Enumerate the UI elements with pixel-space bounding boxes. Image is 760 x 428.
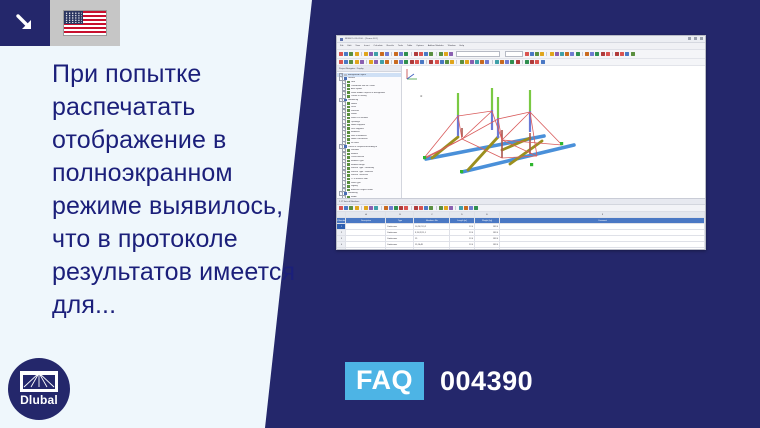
toolbar-button[interactable] (460, 60, 464, 64)
toolbar-separator (546, 52, 547, 56)
mouse-cursor-icon: ➠ (420, 94, 423, 98)
toolbar-button[interactable] (505, 60, 509, 64)
toolbar-button[interactable] (399, 206, 403, 210)
toolbar-button[interactable] (429, 60, 433, 64)
tree-item-label: Coordinate Info on Cursor (351, 85, 375, 87)
toolbar-button[interactable] (374, 52, 378, 56)
menu-item[interactable]: File (340, 45, 344, 47)
faq-card: При попытке распечатать отображение в по… (0, 0, 760, 428)
toolbar-button[interactable] (590, 52, 594, 56)
toolbar-button[interactable] (440, 60, 444, 64)
table-cell[interactable]: 12.0 (450, 236, 475, 241)
table-header-cell: Type (386, 218, 414, 223)
toolbar-button[interactable] (374, 60, 378, 64)
toolbar-button[interactable] (339, 52, 343, 56)
project-navigator-panel: Project Navigator - Display +Background … (337, 66, 402, 198)
toolbar-button[interactable] (449, 52, 453, 56)
toolbar-separator (391, 52, 392, 56)
table-cell[interactable] (346, 236, 386, 241)
toolbar-button[interactable] (374, 206, 378, 210)
table-cell[interactable]: Continuous (386, 230, 414, 235)
table-cell[interactable]: Continuous (386, 242, 414, 247)
toolbar-button[interactable] (385, 60, 389, 64)
window-titlebar: RFEM 5.03.0100 - [Demo-001] (337, 36, 705, 43)
tree-checkbox[interactable] (347, 102, 350, 105)
tree-checkbox[interactable] (347, 149, 350, 152)
table-header-cell: Set of Members No. (337, 218, 346, 223)
tree-item-label: Rigidity (351, 185, 358, 187)
table-cell[interactable] (500, 230, 705, 235)
tree-item-label: Center of Gravity (351, 95, 367, 97)
logo-text: Dlubal (20, 394, 58, 407)
table-header-cell: Weight [kg] (475, 218, 500, 223)
tree-item-label: Nodal Constraints (351, 138, 368, 140)
toolbar-button[interactable] (474, 206, 478, 210)
menu-item[interactable]: Help (460, 45, 465, 47)
menu-item[interactable]: Edit (348, 45, 352, 47)
toolbar-button[interactable] (349, 206, 353, 210)
table-cell[interactable] (500, 224, 705, 229)
toolbar-button[interactable] (360, 60, 364, 64)
menu-item[interactable]: Table (407, 45, 412, 47)
toolbar-button[interactable] (399, 60, 403, 64)
toolbar-button[interactable] (464, 206, 468, 210)
toolbar-separator (612, 52, 613, 56)
workspace: Project Navigator - Display +Background … (337, 66, 705, 198)
table-cell[interactable]: Continuous (386, 236, 414, 241)
toolbar-button[interactable] (355, 60, 359, 64)
badge-row (0, 0, 120, 46)
table-header-cell: Comment (500, 218, 705, 223)
toolbar-button[interactable] (369, 206, 373, 210)
structural-model-graphic (402, 66, 706, 198)
tree-item-label: Line Supports (351, 128, 364, 130)
navigator-tree-item[interactable]: +Model (337, 195, 401, 198)
table-cell[interactable] (500, 248, 705, 250)
toolbar-button[interactable] (510, 60, 514, 64)
toolbar-button[interactable] (530, 52, 534, 56)
window-title: RFEM 5.03.0100 - [Demo-001] (345, 38, 378, 40)
table-cell[interactable]: 12.0 (450, 224, 475, 229)
toolbar-button[interactable] (540, 52, 544, 56)
table-cell[interactable]: 15,35,48 (414, 248, 450, 250)
menu-item[interactable]: Insert (364, 45, 369, 47)
table-cell[interactable]: 182.0 (475, 230, 500, 235)
tree-item-label: Surface Type - Geometry (351, 167, 374, 169)
tree-checkbox[interactable] (347, 88, 350, 91)
tree-checkbox[interactable] (347, 181, 350, 184)
tree-checkbox[interactable] (344, 74, 347, 77)
toolbar-button[interactable] (541, 60, 545, 64)
tree-item-label: Solid Cell Volumes (351, 117, 368, 119)
maximize-button[interactable] (694, 37, 697, 40)
toolbar-separator (492, 60, 493, 64)
toolbar-separator (391, 60, 392, 64)
page-title: При попытке распечатать отображение в по… (52, 58, 302, 322)
toolbar-button[interactable] (475, 60, 479, 64)
toolbar-separator (411, 206, 412, 210)
arrow-down-right-icon (0, 0, 50, 46)
table-cell[interactable] (346, 248, 386, 250)
toolbar-button[interactable] (500, 60, 504, 64)
toolbar-button[interactable] (570, 52, 574, 56)
toolbar-button[interactable] (385, 52, 389, 56)
tree-checkbox[interactable] (347, 81, 350, 84)
tree-checkbox[interactable] (347, 174, 350, 177)
menu-item[interactable]: Options (416, 45, 424, 47)
toolbar-button[interactable] (620, 52, 624, 56)
toolbar-button[interactable] (444, 52, 448, 56)
table-panel: 1.17 Sets of Members ABCDEFSet of Member… (337, 198, 705, 250)
tree-checkbox[interactable] (347, 106, 350, 109)
tree-item-label: FE Mesh (351, 142, 359, 144)
table-cell[interactable]: 3 (337, 236, 346, 241)
tree-item-label: Member Hinge (351, 164, 365, 166)
toolbar-button[interactable] (369, 52, 373, 56)
tree-checkbox[interactable] (347, 142, 350, 145)
table-column-letter[interactable]: B (386, 212, 414, 217)
faq-badge: FAQ (345, 362, 424, 400)
toolbar-button[interactable] (419, 52, 423, 56)
toolbar-button[interactable] (349, 60, 353, 64)
table-cell[interactable] (346, 242, 386, 247)
toolbar-button[interactable] (369, 60, 373, 64)
app-icon (340, 38, 343, 41)
tree-item-label: Lines (351, 106, 356, 108)
tree-checkbox[interactable] (347, 95, 350, 98)
tree-item-label: Axis System (351, 88, 362, 90)
toolbar-button[interactable] (444, 206, 448, 210)
menu-item[interactable]: Tools (398, 45, 403, 47)
table-header-cell: Length [m] (450, 218, 475, 223)
toolbar-button[interactable] (394, 60, 398, 64)
toolbar-button[interactable] (424, 52, 428, 56)
toolbar-button[interactable] (615, 52, 619, 56)
toolbar-button[interactable] (525, 52, 529, 56)
scale-select[interactable] (505, 51, 523, 57)
table-cell[interactable]: 15,16,48 (414, 242, 450, 247)
toolbar-button[interactable] (606, 52, 610, 56)
toolbar-button[interactable] (585, 52, 589, 56)
menu-item[interactable]: Calculate (374, 45, 383, 47)
toolbar-primary[interactable] (337, 50, 705, 59)
tree-item-label: Numbering (348, 99, 358, 101)
tree-checkbox[interactable] (347, 185, 350, 188)
toolbar-button[interactable] (485, 60, 489, 64)
toolbar-button[interactable] (601, 52, 605, 56)
tree-item-label: Sets of Members (351, 135, 367, 137)
table-cell[interactable]: 182.0 (475, 224, 500, 229)
toolbar-button[interactable] (394, 52, 398, 56)
toolbar-button[interactable] (449, 206, 453, 210)
tree-item-label: Material (351, 153, 358, 155)
toolbar-button[interactable] (420, 60, 424, 64)
table-column-letter[interactable]: F (500, 212, 705, 217)
toolbar-button[interactable] (465, 60, 469, 64)
table-header-cell: Description (346, 218, 386, 223)
tree-item-label: Nodal Supports (351, 124, 365, 126)
toolbar-button[interactable] (404, 206, 408, 210)
table-cell[interactable]: 4 (337, 242, 346, 247)
toolbar-button[interactable] (459, 206, 463, 210)
toolbar-button[interactable] (349, 52, 353, 56)
toolbar-separator (361, 52, 362, 56)
toolbar-button[interactable] (469, 206, 473, 210)
toolbar-button[interactable] (404, 60, 408, 64)
tree-checkbox[interactable] (347, 156, 350, 159)
tree-checkbox[interactable] (347, 189, 350, 192)
us-flag-icon (50, 0, 120, 46)
table-cell[interactable]: 12.0 (450, 248, 475, 250)
toolbar-button[interactable] (560, 52, 564, 56)
toolbar-button[interactable] (364, 206, 368, 210)
tree-checkbox[interactable] (347, 167, 350, 170)
toolbar-button[interactable] (384, 206, 388, 210)
table-grid[interactable]: ABCDEFSet of Members No.DescriptionTypeM… (337, 212, 705, 250)
toolbar-button[interactable] (450, 60, 454, 64)
faq-number: 004390 (440, 366, 533, 396)
tree-checkbox[interactable] (347, 178, 350, 181)
toolbar-button[interactable] (429, 52, 433, 56)
axis-indicator-icon (404, 66, 422, 82)
toolbar-separator (582, 52, 583, 56)
toolbar-button[interactable] (530, 60, 534, 64)
menu-item[interactable]: Results (387, 45, 394, 47)
table-cell[interactable]: 182.0 (475, 242, 500, 247)
toolbar-button[interactable] (535, 52, 539, 56)
table-cell[interactable]: 10,20,21,9,2 (414, 224, 450, 229)
truss-frame-icon (20, 371, 58, 392)
flag-stars (65, 12, 82, 23)
toolbar-button[interactable] (445, 60, 449, 64)
tree-checkbox[interactable] (347, 163, 350, 166)
table-cell[interactable]: 1 (337, 224, 346, 229)
toolbar-button[interactable] (339, 206, 343, 210)
table-cell[interactable]: 3,19,22,11,1 (414, 230, 450, 235)
toolbar-button[interactable] (414, 52, 418, 56)
tree-item-label: Surface Thickness (351, 174, 368, 176)
tree-checkbox[interactable] (347, 109, 350, 112)
toolbar-button[interactable] (439, 52, 443, 56)
tree-checkbox[interactable] (347, 160, 350, 163)
toolbar-button[interactable] (435, 60, 439, 64)
logo-circle: Dlubal (8, 358, 70, 420)
table-cell[interactable]: 15 (414, 236, 450, 241)
toolbar-button[interactable] (495, 60, 499, 64)
table-column-letter[interactable]: A (346, 212, 386, 217)
toolbar-button[interactable] (565, 52, 569, 56)
toolbar-separator (361, 206, 362, 210)
toolbar-button[interactable] (355, 52, 359, 56)
toolbar-button[interactable] (625, 52, 629, 56)
flag-canton (64, 11, 83, 24)
tree-checkbox[interactable] (347, 138, 350, 141)
tree-checkbox[interactable] (347, 127, 350, 130)
tree-item-label: Surface Type - Stiffness (351, 171, 373, 173)
tree-item-label: Standard (351, 149, 359, 151)
toolbar-button[interactable] (410, 60, 414, 64)
table-cell[interactable] (346, 224, 386, 229)
toolbar-button[interactable] (355, 206, 359, 210)
toolbar-button[interactable] (424, 206, 428, 210)
toolbar-separator (426, 60, 427, 64)
tree-checkbox[interactable] (347, 196, 350, 198)
toolbar-separator (411, 52, 412, 56)
tree-item-label: Cross-Section (351, 156, 364, 158)
toolbar-button[interactable] (555, 52, 559, 56)
toolbar-secondary[interactable] (337, 59, 705, 66)
toolbar-button[interactable] (399, 52, 403, 56)
toolbar-button[interactable] (380, 60, 384, 64)
tree-checkbox[interactable] (347, 91, 350, 94)
window-controls (688, 37, 703, 40)
table-cell[interactable]: 182.0 (475, 248, 500, 250)
menubar[interactable]: FileEditViewInsertCalculateResultsToolsT… (337, 43, 705, 50)
table-cell[interactable]: 2 (337, 230, 346, 235)
toolbar-button[interactable] (516, 60, 520, 64)
tree-checkbox[interactable] (347, 84, 350, 87)
minimize-button[interactable] (688, 37, 691, 40)
toolbar-separator (455, 206, 456, 210)
toolbar-button[interactable] (344, 60, 348, 64)
toolbar-button[interactable] (344, 52, 348, 56)
table-column-letter[interactable]: C (414, 212, 450, 217)
toolbar-button[interactable] (429, 206, 433, 210)
table-column-letter[interactable]: E (475, 212, 500, 217)
tree-checkbox[interactable] (347, 135, 350, 138)
table-cell[interactable]: 5 (337, 248, 346, 250)
toolbar-separator (381, 206, 382, 210)
table-column-letter[interactable] (337, 212, 346, 217)
toolbar-button[interactable] (480, 60, 484, 64)
tree-item-label: +/- z-Surface Side (351, 178, 368, 180)
flag-graphic (63, 10, 107, 36)
toolbar-button[interactable] (576, 52, 580, 56)
tree-checkbox[interactable] (347, 171, 350, 174)
tree-checkbox[interactable] (347, 117, 350, 120)
table-cell[interactable] (500, 242, 705, 247)
tree-item-label: Nodes (351, 103, 357, 105)
toolbar-separator (366, 60, 367, 64)
toolbar-button[interactable] (631, 52, 635, 56)
toolbar-button[interactable] (535, 60, 539, 64)
toolbar-button[interactable] (380, 52, 384, 56)
menu-item[interactable]: Window (448, 45, 456, 47)
load-case-select[interactable] (456, 51, 500, 57)
tree-item-label: Openings (351, 121, 360, 123)
tree-item-label: Rendering (348, 192, 358, 194)
toolbar-button[interactable] (389, 206, 393, 210)
close-button[interactable] (700, 37, 703, 40)
table-cell[interactable]: Continuous (386, 248, 414, 250)
application-screenshot: RFEM 5.03.0100 - [Demo-001] FileEditView… (336, 35, 706, 250)
tree-item-label: Solid Type (351, 182, 361, 184)
table-toolbar[interactable] (337, 205, 705, 212)
tree-checkbox[interactable] (347, 120, 350, 123)
tree-item-label: Members (351, 131, 360, 133)
tree-item-label: Model (351, 196, 357, 198)
tree-item-label: Colors in Graphics According to (348, 146, 377, 148)
dlubal-logo: Dlubal (8, 358, 70, 420)
tree-checkbox[interactable] (347, 113, 350, 116)
toolbar-separator (436, 206, 437, 210)
toolbar-separator (436, 52, 437, 56)
table-column-letter[interactable]: D (450, 212, 475, 217)
table-cell[interactable]: 182.0 (475, 236, 500, 241)
toolbar-separator (456, 60, 457, 64)
tree-checkbox[interactable] (347, 131, 350, 134)
toolbar-button[interactable] (595, 52, 599, 56)
model-viewport[interactable]: ➠ (402, 66, 705, 198)
tree-item-label: Show Hidden Objects in Background (351, 92, 385, 94)
toolbar-button[interactable] (364, 52, 368, 56)
toolbar-button[interactable] (415, 60, 419, 64)
table-cell[interactable]: 12.0 (450, 242, 475, 247)
tree-item-label: Background Layers (348, 74, 366, 76)
table-cell[interactable]: Continuous (386, 224, 414, 229)
toolbar-button[interactable] (419, 206, 423, 210)
menu-item[interactable]: Add-on Modules (428, 45, 444, 47)
toolbar-button[interactable] (414, 206, 418, 210)
table-row[interactable]: 5Continuous15,35,4812.0182.0 (337, 248, 705, 250)
tree-item-label: Surfaces (351, 110, 359, 112)
toolbar-separator (522, 60, 523, 64)
table-cell[interactable] (500, 236, 705, 241)
tree-item-label: General (348, 77, 355, 79)
toolbar-button[interactable] (439, 206, 443, 210)
tree-checkbox[interactable] (347, 153, 350, 156)
toolbar-button[interactable] (404, 52, 408, 56)
table-header-cell: Members No. (414, 218, 450, 223)
tree-item-label: Effective Length Factors (351, 189, 373, 191)
toolbar-button[interactable] (550, 52, 554, 56)
toolbar-button[interactable] (339, 60, 343, 64)
toolbar-button[interactable] (525, 60, 529, 64)
menu-item[interactable]: View (355, 45, 360, 47)
faq-footer: FAQ 004390 (345, 362, 533, 400)
navigator-tree[interactable]: +Background Layers+General+Grid+Coordina… (337, 72, 401, 198)
table-cell[interactable] (346, 230, 386, 235)
table-cell[interactable]: 12.0 (450, 230, 475, 235)
toolbar-button[interactable] (344, 206, 348, 210)
toolbar-button[interactable] (394, 206, 398, 210)
toolbar-button[interactable] (470, 60, 474, 64)
tree-item-label: Grid (351, 81, 355, 83)
tree-item-label: Member Type (351, 160, 364, 162)
tree-checkbox[interactable] (347, 124, 350, 127)
tree-item-label: Solids (351, 113, 357, 115)
